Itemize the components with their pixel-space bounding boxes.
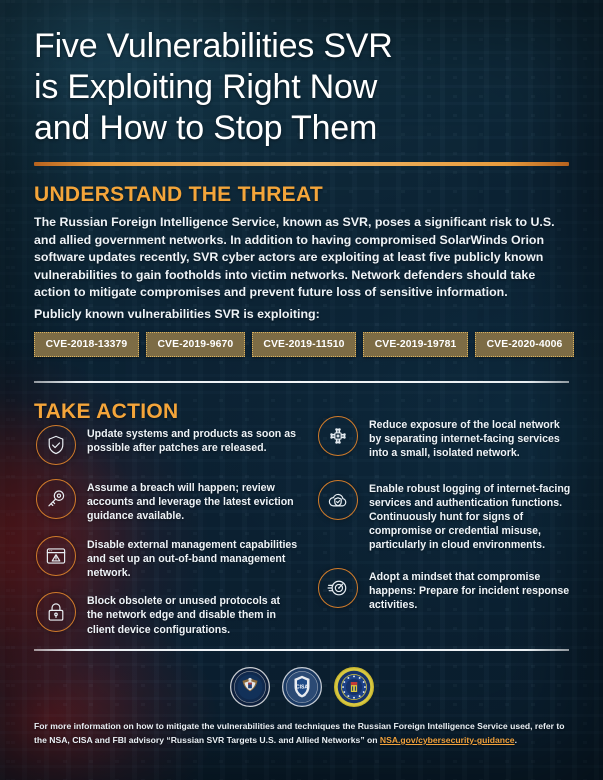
action-item: Update systems and products as soon as p…	[36, 424, 298, 465]
cve-badge[interactable]: CVE-2019-9670	[146, 332, 245, 357]
fbi-seal	[334, 667, 374, 707]
action-item: Adopt a mindset that compromise happens:…	[318, 567, 574, 613]
page-title: Five Vulnerabilities SVR is Exploiting R…	[34, 26, 564, 149]
action-list-left: Update systems and products as soon as p…	[36, 424, 298, 646]
action-item-text: Adopt a mindset that compromise happens:…	[369, 567, 574, 613]
action-item-text: Reduce exposure of the local network by …	[369, 415, 574, 461]
nsa-seal	[230, 667, 270, 707]
action-item: Block obsolete or unused protocols at th…	[36, 591, 298, 637]
action-item: Reduce exposure of the local network by …	[318, 415, 574, 461]
keys-magnifier-icon	[36, 479, 76, 519]
cloud-shield-icon	[318, 480, 358, 520]
title-line-3: and How to Stop Them	[34, 108, 564, 149]
footer-text-after: .	[515, 735, 517, 745]
action-item-text: Enable robust logging of internet-facing…	[369, 479, 574, 553]
section-divider-lower	[34, 649, 569, 651]
title-divider-gold	[34, 162, 569, 166]
cve-badge[interactable]: CVE-2019-11510	[252, 332, 356, 357]
svg-text:CISA: CISA	[296, 684, 308, 690]
browser-warning-icon	[36, 536, 76, 576]
action-item-text: Assume a breach will happen; review acco…	[87, 478, 298, 524]
padlock-icon	[36, 592, 76, 632]
cve-badge-row: CVE-2018-13379 CVE-2019-9670 CVE-2019-11…	[34, 332, 574, 357]
section-heading-understand-the-threat: UNDERSTAND THE THREAT	[34, 183, 323, 207]
action-item-text: Disable external management capabilities…	[87, 535, 298, 581]
agency-seals: CISA	[0, 667, 603, 707]
section-divider-upper	[34, 381, 569, 383]
threat-subheading: Publicly known vulnerabilities SVR is ex…	[34, 307, 570, 321]
action-item-text: Update systems and products as soon as p…	[87, 424, 298, 455]
action-item: Enable robust logging of internet-facing…	[318, 479, 574, 553]
title-line-2: is Exploiting Right Now	[34, 67, 564, 108]
network-chip-icon	[318, 416, 358, 456]
action-item-text: Block obsolete or unused protocols at th…	[87, 591, 298, 637]
nsa-guidance-link[interactable]: NSA.gov/cybersecurity-guidance	[380, 735, 515, 745]
threat-body-text: The Russian Foreign Intelligence Service…	[34, 214, 570, 302]
cisa-seal: CISA	[282, 667, 322, 707]
action-list-right: Reduce exposure of the local network by …	[318, 415, 574, 621]
footer-text: For more information on how to mitigate …	[34, 719, 574, 747]
action-item: Assume a breach will happen; review acco…	[36, 478, 298, 524]
cve-badge[interactable]: CVE-2019-19781	[363, 332, 468, 357]
section-heading-take-action: TAKE ACTION	[34, 400, 178, 424]
action-item: Disable external management capabilities…	[36, 535, 298, 581]
cve-badge[interactable]: CVE-2018-13379	[34, 332, 139, 357]
infographic-poster: Five Vulnerabilities SVR is Exploiting R…	[0, 0, 603, 780]
gauge-target-icon	[318, 568, 358, 608]
cve-badge[interactable]: CVE-2020-4006	[475, 332, 574, 357]
title-line-1: Five Vulnerabilities SVR	[34, 26, 564, 67]
shield-check-icon	[36, 425, 76, 465]
